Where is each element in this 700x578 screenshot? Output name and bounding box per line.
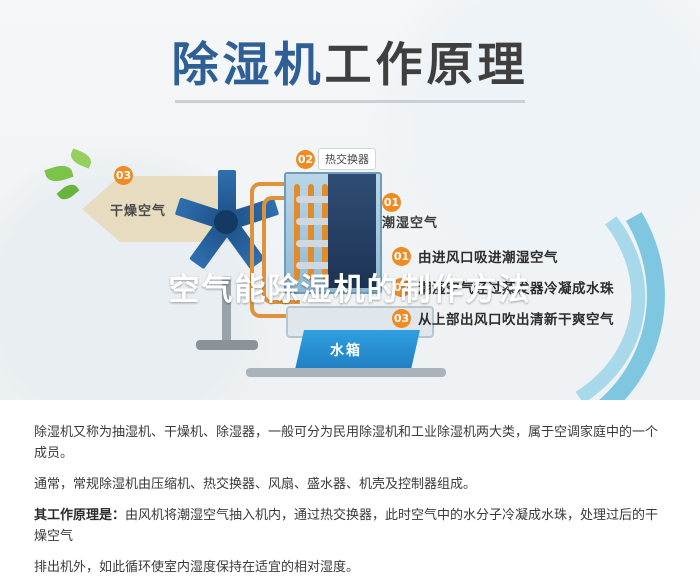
fan-base (196, 340, 258, 350)
humid-air-label: 潮湿空气 (382, 212, 438, 231)
paragraph-3: 其工作原理是：由风机将潮湿空气抽入机内，通过热交换器，此时空气中的水分子冷凝成水… (34, 505, 666, 547)
base-plate (246, 368, 446, 377)
badge-02-heat-exchanger: 02 (296, 150, 315, 169)
step-item-1: 01 由进风口吸进潮湿空气 (392, 246, 692, 266)
diagram-title: 除湿机工作原理 (0, 26, 700, 95)
water-tank-label: 水箱 (330, 340, 362, 360)
heat-exchanger-label: 热交换器 (318, 148, 376, 170)
dry-air-label: 干燥空气 (110, 200, 166, 219)
paragraph-1: 除湿机又称为抽湿机、干燥机、除湿器，一般可分为民用除湿机和工业除湿机两大类，属于… (34, 422, 666, 464)
step-text-1: 由进风口吸进潮湿空气 (418, 246, 558, 266)
fan-hub (214, 210, 238, 234)
paragraph-3-label: 其工作原理是： (34, 508, 125, 523)
description-text-block: 除湿机又称为抽湿机、干燥机、除湿器，一般可分为民用除湿机和工业除湿机两大类，属于… (0, 400, 700, 566)
step-badge-1: 01 (392, 247, 411, 266)
step-text-3: 从上部出风口吹出清新干爽空气 (418, 308, 614, 328)
diagram-title-part2: 工作原理 (325, 38, 529, 93)
diagram-illustration: 除湿机工作原理 03 干燥空气 02 热交换器 01 潮湿空气 (0, 0, 700, 400)
paragraph-4: 排出机外，如此循环使室内湿度保持在适宜的相对湿度。 (34, 557, 666, 578)
leaf-icon-3 (56, 181, 79, 203)
title-underline (175, 100, 525, 103)
watermark-headline: 空气能除湿机的制作方法 (0, 264, 700, 309)
paragraph-3-text: 由风机将潮湿空气抽入机内，通过热交换器，此时空气中的水分子冷凝成水珠，处理过后的… (34, 508, 658, 544)
badge-01-humid-air: 01 (382, 193, 401, 212)
step-item-3: 03 从上部出风口吹出清新干爽空气 (392, 308, 692, 328)
leaf-icon-2 (68, 148, 93, 168)
diagram-title-part1: 除湿机 (172, 38, 325, 93)
page-root: 除湿机工作原理 03 干燥空气 02 热交换器 01 潮湿空气 (0, 0, 700, 566)
paragraph-2: 通常，常规除湿机由压缩机、热交换器、风扇、盛水器、机壳及控制器组成。 (34, 474, 666, 495)
badge-03-dry-air: 03 (114, 166, 133, 185)
leaf-icon-1 (44, 162, 73, 184)
step-badge-3: 03 (392, 309, 411, 328)
